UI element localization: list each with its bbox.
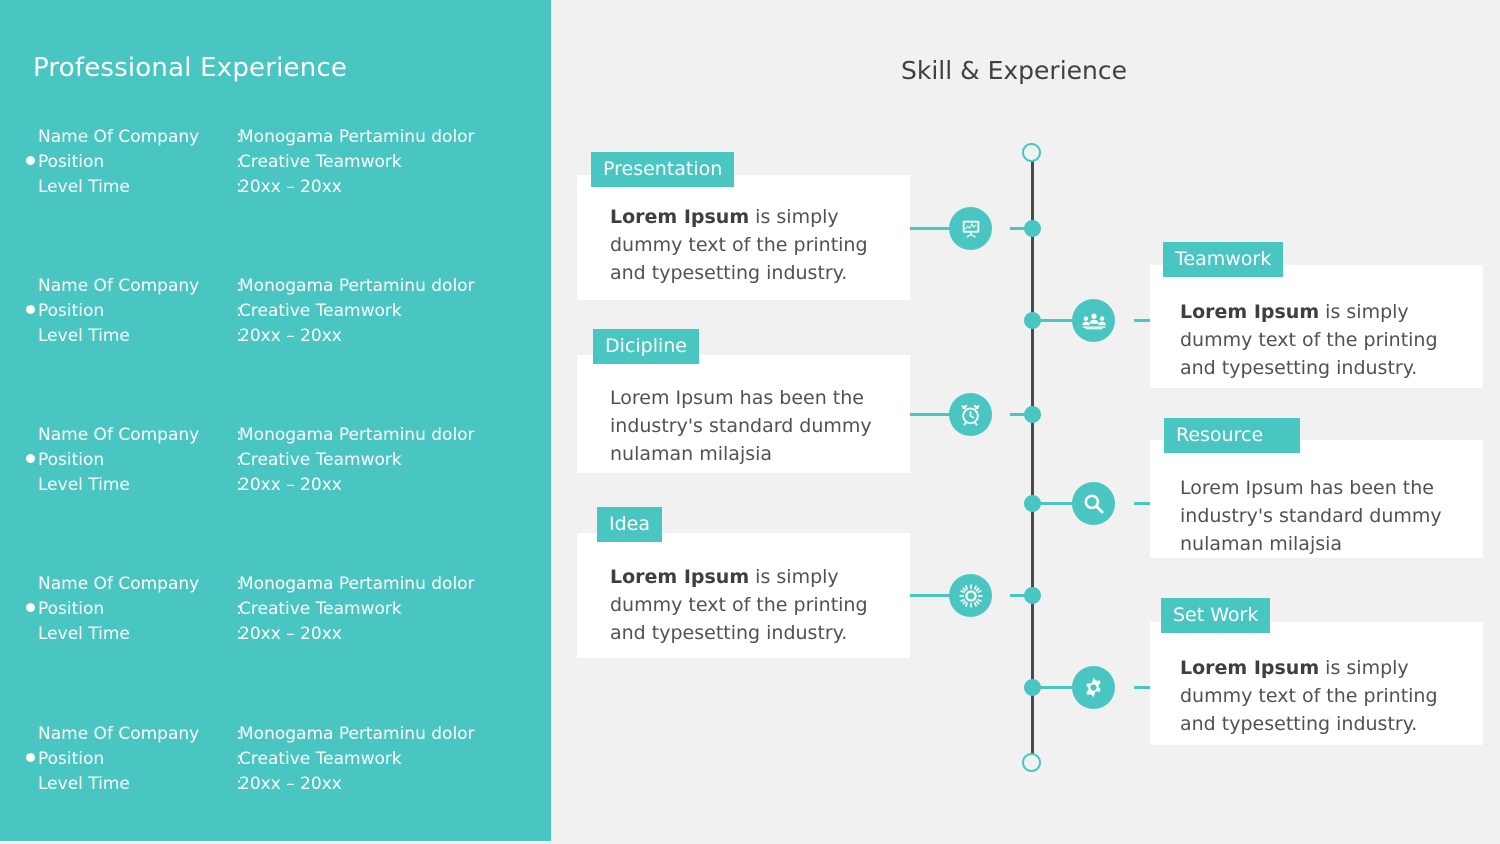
card-body-resource: Lorem Ipsum has been the industry's stan… xyxy=(1180,474,1470,558)
experience-row-company: Name Of Company : Monogama Pertaminu dol… xyxy=(38,423,538,448)
experience-entry[interactable]: Name Of Company : Monogama Pertaminu dol… xyxy=(0,274,551,348)
gear-settings-icon[interactable] xyxy=(1072,666,1115,709)
bullet-icon xyxy=(26,305,35,314)
experience-entry[interactable]: Name Of Company : Monogama Pertaminu dol… xyxy=(0,722,551,796)
card-body-bold: Lorem Ipsum xyxy=(1180,301,1319,323)
label-level-time: Level Time xyxy=(38,622,130,647)
experience-row-company: Name Of Company : Monogama Pertaminu dol… xyxy=(38,274,538,299)
label-position: Position xyxy=(38,597,104,622)
experience-row-position: Position : Creative Teamwork xyxy=(38,597,538,622)
team-people-icon[interactable] xyxy=(1072,299,1115,342)
connector-line xyxy=(1030,319,1072,322)
card-badge-resource: Resource xyxy=(1164,418,1300,453)
label-level-time: Level Time xyxy=(38,324,130,349)
alarm-clock-icon[interactable] xyxy=(949,393,992,436)
experience-row-company: Name Of Company : Monogama Pertaminu dol… xyxy=(38,125,538,150)
timeline-start-marker xyxy=(1022,143,1041,162)
card-body-rest: Lorem Ipsum has been the industry's stan… xyxy=(1180,477,1442,555)
card-body-set-work: Lorem Ipsum is simply dummy text of the … xyxy=(1180,654,1452,738)
page-title-skill-experience: Skill & Experience xyxy=(901,56,1127,85)
card-badge-dicipline: Dicipline xyxy=(593,329,699,364)
value-level-time: 20xx – 20xx xyxy=(239,622,342,647)
experience-entry[interactable]: Name Of Company : Monogama Pertaminu dol… xyxy=(0,125,551,199)
label-company: Name Of Company xyxy=(38,722,199,747)
value-level-time: 20xx – 20xx xyxy=(239,772,342,797)
connector-line xyxy=(1010,594,1034,597)
card-body-bold: Lorem Ipsum xyxy=(610,206,749,228)
value-company: Monogama Pertaminu dolor xyxy=(239,722,475,747)
connector-line xyxy=(1030,686,1072,689)
card-badge-teamwork: Teamwork xyxy=(1163,242,1283,277)
timeline-spine xyxy=(1031,152,1034,763)
value-company: Monogama Pertaminu dolor xyxy=(239,572,475,597)
professional-experience-panel: Professional Experience Name Of Company … xyxy=(0,0,551,841)
experience-row-company: Name Of Company : Monogama Pertaminu dol… xyxy=(38,722,538,747)
connector-line xyxy=(909,594,951,597)
card-body-dicipline: Lorem Ipsum has been the industry's stan… xyxy=(610,384,890,468)
experience-row-position: Position : Creative Teamwork xyxy=(38,747,538,772)
experience-entry-rows: Name Of Company : Monogama Pertaminu dol… xyxy=(38,125,538,200)
connector-line xyxy=(1010,413,1034,416)
label-position: Position xyxy=(38,448,104,473)
value-level-time: 20xx – 20xx xyxy=(239,175,342,200)
label-position: Position xyxy=(38,299,104,324)
experience-row-company: Name Of Company : Monogama Pertaminu dol… xyxy=(38,572,538,597)
experience-entry-rows: Name Of Company : Monogama Pertaminu dol… xyxy=(38,572,538,647)
card-badge-idea: Idea xyxy=(597,507,662,542)
value-company: Monogama Pertaminu dolor xyxy=(239,125,475,150)
connector-line xyxy=(1030,502,1072,505)
value-company: Monogama Pertaminu dolor xyxy=(239,274,475,299)
experience-row-level-time: Level Time : 20xx – 20xx xyxy=(38,324,538,349)
card-body-teamwork: Lorem Ipsum is simply dummy text of the … xyxy=(1180,298,1452,382)
bullet-icon xyxy=(26,156,35,165)
presentation-board-icon[interactable] xyxy=(949,207,992,250)
slide-canvas: Professional Experience Name Of Company … xyxy=(0,0,1500,844)
label-company: Name Of Company xyxy=(38,572,199,597)
experience-row-level-time: Level Time : 20xx – 20xx xyxy=(38,772,538,797)
card-body-bold: Lorem Ipsum xyxy=(1180,657,1319,679)
magnifier-search-icon[interactable] xyxy=(1072,482,1115,525)
label-position: Position xyxy=(38,747,104,772)
experience-row-position: Position : Creative Teamwork xyxy=(38,150,538,175)
page-title-professional-experience: Professional Experience xyxy=(33,53,347,83)
connector-line xyxy=(1010,227,1034,230)
label-company: Name Of Company xyxy=(38,274,199,299)
value-company: Monogama Pertaminu dolor xyxy=(239,423,475,448)
card-badge-presentation: Presentation xyxy=(591,152,734,187)
label-level-time: Level Time xyxy=(38,772,130,797)
experience-entry[interactable]: Name Of Company : Monogama Pertaminu dol… xyxy=(0,572,551,646)
card-body-bold: Lorem Ipsum xyxy=(610,566,749,588)
value-position: Creative Teamwork xyxy=(239,150,402,175)
label-position: Position xyxy=(38,150,104,175)
experience-row-position: Position : Creative Teamwork xyxy=(38,448,538,473)
card-body-rest: Lorem Ipsum has been the industry's stan… xyxy=(610,387,872,465)
experience-entry-rows: Name Of Company : Monogama Pertaminu dol… xyxy=(38,274,538,349)
experience-row-level-time: Level Time : 20xx – 20xx xyxy=(38,622,538,647)
label-level-time: Level Time xyxy=(38,473,130,498)
card-body-presentation: Lorem Ipsum is simply dummy text of the … xyxy=(610,203,882,287)
experience-row-level-time: Level Time : 20xx – 20xx xyxy=(38,175,538,200)
value-position: Creative Teamwork xyxy=(239,747,402,772)
experience-row-position: Position : Creative Teamwork xyxy=(38,299,538,324)
card-badge-set-work: Set Work xyxy=(1161,598,1270,633)
value-position: Creative Teamwork xyxy=(239,299,402,324)
value-position: Creative Teamwork xyxy=(239,448,402,473)
card-body-idea: Lorem Ipsum is simply dummy text of the … xyxy=(610,563,882,647)
connector-line xyxy=(909,413,951,416)
experience-entry-rows: Name Of Company : Monogama Pertaminu dol… xyxy=(38,722,538,797)
bullet-icon xyxy=(26,454,35,463)
value-level-time: 20xx – 20xx xyxy=(239,473,342,498)
connector-line xyxy=(909,227,951,230)
value-level-time: 20xx – 20xx xyxy=(239,324,342,349)
experience-entry-rows: Name Of Company : Monogama Pertaminu dol… xyxy=(38,423,538,498)
label-level-time: Level Time xyxy=(38,175,130,200)
label-company: Name Of Company xyxy=(38,125,199,150)
value-position: Creative Teamwork xyxy=(239,597,402,622)
label-company: Name Of Company xyxy=(38,423,199,448)
experience-entry[interactable]: Name Of Company : Monogama Pertaminu dol… xyxy=(0,423,551,497)
bullet-icon xyxy=(26,603,35,612)
experience-row-level-time: Level Time : 20xx – 20xx xyxy=(38,473,538,498)
bullet-icon xyxy=(26,753,35,762)
sun-idea-icon[interactable] xyxy=(949,574,992,617)
timeline-end-marker xyxy=(1022,753,1041,772)
